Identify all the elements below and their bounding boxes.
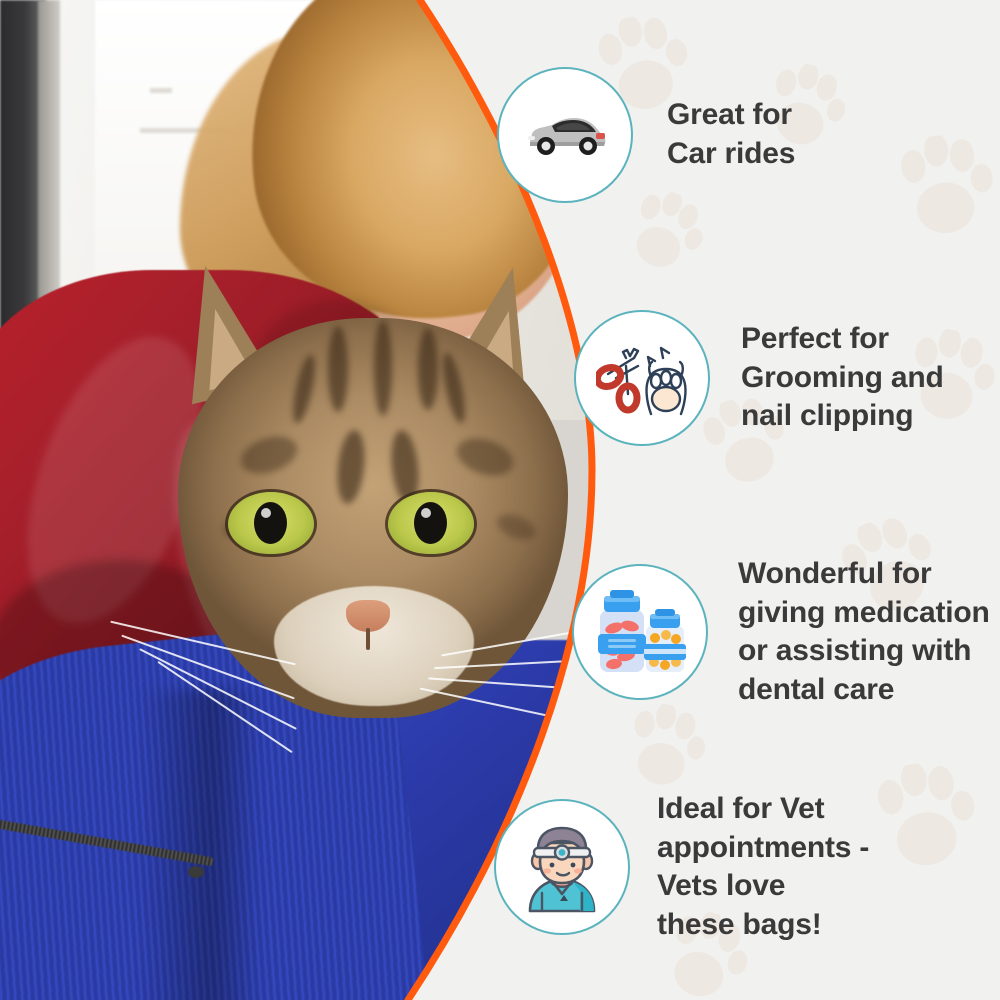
feature-item-medication[interactable]: Wonderful for giving medication or assis… — [572, 555, 990, 710]
feature-item-car-rides[interactable]: Great for Car rides — [497, 67, 795, 203]
feature-item-grooming[interactable]: Perfect for Grooming and nail clipping — [574, 310, 944, 446]
nail-clipper-paw-icon — [596, 336, 688, 420]
feature-icon-badge — [572, 564, 708, 700]
feature-item-vet-visits[interactable]: Ideal for Vet appointments - Vets love t… — [494, 790, 869, 945]
car-icon — [522, 112, 608, 158]
feature-icon-badge — [574, 310, 710, 446]
feature-label: Wonderful for giving medication or assis… — [738, 555, 990, 710]
feature-label: Ideal for Vet appointments - Vets love t… — [657, 790, 869, 945]
veterinarian-icon — [516, 821, 608, 913]
feature-label: Perfect for Grooming and nail clipping — [741, 320, 944, 436]
pill-bottles-icon — [592, 588, 688, 676]
feature-icon-badge — [497, 67, 633, 203]
infographic-canvas: Great for Car rides — [0, 0, 1000, 1000]
feature-list: Great for Car rides — [0, 0, 1000, 1000]
feature-icon-badge — [494, 799, 630, 935]
feature-label: Great for Car rides — [667, 96, 795, 173]
